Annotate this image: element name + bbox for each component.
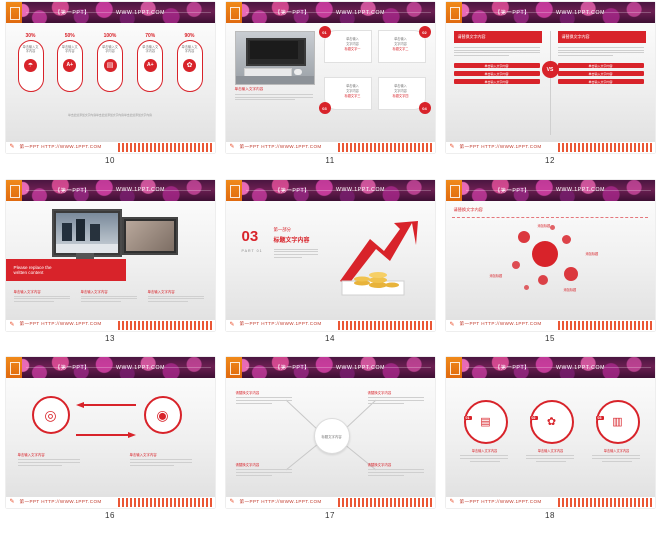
slide-cell-17[interactable]: 【第一PPT】 WWW.1PPT.COM 标题文字内容 请替换	[220, 355, 440, 533]
slide-11[interactable]: 【第一PPT】 WWW.1PPT.COM 单击输入文字内容	[226, 2, 435, 153]
slide-cell-15[interactable]: 【第一PPT】 WWW.1PPT.COM 请替换文字内容 添加标题 添加标题	[440, 178, 660, 356]
capsule-item[interactable]: 50% 单击输入文 字内容 A+	[55, 33, 85, 92]
capsule-label-2: 字内容	[182, 49, 198, 53]
brand-left: 【第一PPT】	[55, 187, 90, 194]
bubble-label: 添加标题	[538, 223, 551, 228]
footer-text: 第一PPT HTTP://WWW.1PPT.COM	[460, 499, 542, 505]
slide-10[interactable]: 【第一PPT】 WWW.1PPT.COM 30% 单击输入文 字内容	[6, 2, 215, 153]
brand-right: WWW.1PPT.COM	[556, 365, 605, 371]
red-banner: Please replace the written content	[6, 259, 126, 281]
slide-footer-bar: ✎ 第一PPT HTTP://WWW.1PPT.COM	[6, 320, 215, 331]
vs-divider	[550, 31, 551, 135]
slide-body: ◎ ◉ 单击输入文字内容 单击输入文字内	[6, 378, 215, 497]
slide-header-bar: 【第一PPT】 WWW.1PPT.COM	[226, 180, 435, 201]
ring-caption: 单击输入文字内容	[460, 448, 510, 453]
slide-footer-bar: ✎ 第一PPT HTTP://WWW.1PPT.COM	[446, 142, 655, 153]
slide-footer-bar: ✎ 第一PPT HTTP://WWW.1PPT.COM	[226, 142, 435, 153]
footer-text: 第一PPT HTTP://WWW.1PPT.COM	[240, 144, 322, 150]
footer-dashes	[338, 143, 433, 152]
footer-dashes	[558, 321, 653, 330]
brand-right: WWW.1PPT.COM	[556, 187, 605, 193]
slide-13[interactable]: 【第一PPT】 WWW.1PPT.COM	[6, 180, 215, 331]
desk-computer-photo	[235, 31, 315, 85]
pencil-icon: ✎	[10, 499, 18, 505]
percent-value: 30%	[16, 33, 46, 39]
bubble-small[interactable]	[564, 267, 578, 281]
pencil-icon: ✎	[10, 322, 18, 328]
pencil-icon: ✎	[450, 322, 458, 328]
left-button[interactable]: 单击输入文字内容	[454, 71, 540, 76]
badge-number: 03	[596, 416, 604, 420]
footer-text: 第一PPT HTTP://WWW.1PPT.COM	[20, 499, 102, 505]
badge-03: 03	[319, 102, 331, 114]
brand-right: WWW.1PPT.COM	[116, 10, 165, 16]
slide-header-bar: 【第一PPT】 WWW.1PPT.COM	[446, 180, 655, 201]
brand-left: 【第一PPT】	[55, 364, 90, 371]
a-plus-icon: A+	[63, 59, 76, 72]
percent-value: 90%	[175, 33, 205, 39]
part-label: PART 01	[242, 249, 263, 253]
brand-right: WWW.1PPT.COM	[556, 10, 605, 16]
percent-value: 70%	[135, 33, 165, 39]
right-button[interactable]: 单击输入文字内容	[558, 63, 644, 68]
caption-block: 单击输入文字内容	[130, 452, 194, 467]
slide-footer-bar: ✎ 第一PPT HTTP://WWW.1PPT.COM	[226, 320, 435, 331]
slide-number: 16	[105, 511, 115, 520]
node-block[interactable]: 请替换文字内容	[368, 462, 426, 477]
footer-text: 第一PPT HTTP://WWW.1PPT.COM	[460, 321, 542, 327]
slide-number: 18	[545, 511, 555, 520]
ring-caption: 单击输入文字内容	[592, 448, 642, 453]
capsule-item[interactable]: 30% 单击输入文 字内容 ☂	[16, 33, 46, 92]
node-title: 请替换文字内容	[368, 462, 426, 467]
slide-cell-14[interactable]: 【第一PPT】 WWW.1PPT.COM 03 PART 01 第一部分 标题文…	[220, 178, 440, 356]
slide-body: Please replace the written content 单击输入文…	[6, 201, 215, 320]
slide-cell-13[interactable]: 【第一PPT】 WWW.1PPT.COM	[0, 178, 220, 356]
percent-value: 50%	[55, 33, 85, 39]
bubble-small[interactable]	[518, 231, 530, 243]
capsule-label-2: 字内容	[62, 49, 78, 53]
slide-thumbnail-grid: 【第一PPT】 WWW.1PPT.COM 30% 单击输入文 字内容	[0, 0, 660, 533]
footer-text: 第一PPT HTTP://WWW.1PPT.COM	[460, 144, 542, 150]
pencil-icon: ✎	[230, 499, 238, 505]
left-button[interactable]: 单击输入文字内容	[454, 79, 540, 84]
card-line-3: 标题文字四	[385, 94, 417, 99]
capsule-item[interactable]: 100% 单击输入文 字内容 ▤	[94, 33, 126, 92]
brand-left: 【第一PPT】	[275, 9, 310, 16]
slide-header-bar: 【第一PPT】 WWW.1PPT.COM	[446, 357, 655, 378]
ring-right[interactable]: ◉	[144, 396, 182, 434]
slide-cell-18[interactable]: 【第一PPT】 WWW.1PPT.COM ▤ 01 单击输入文字内容 ✿ 02	[440, 355, 660, 533]
arrow-coins-illustration	[328, 215, 420, 303]
tablet-photo	[122, 217, 178, 255]
footer-dashes	[118, 498, 213, 507]
node-title: 请替换文字内容	[236, 390, 294, 395]
node-block[interactable]: 请替换文字内容	[368, 390, 426, 405]
node-title: 请替换文字内容	[236, 462, 294, 467]
slide-cell-11[interactable]: 【第一PPT】 WWW.1PPT.COM 单击输入文字内容	[220, 0, 440, 178]
bubble-dot[interactable]	[524, 285, 529, 290]
bubble-small[interactable]	[512, 261, 520, 269]
left-title: 请替换文字内容	[454, 31, 542, 43]
slide-cell-10[interactable]: 【第一PPT】 WWW.1PPT.COM 30% 单击输入文 字内容	[0, 0, 220, 178]
text-column: 单击输入文字内容	[81, 289, 139, 304]
bubble-label: 添加标题	[564, 287, 577, 292]
slide-15[interactable]: 【第一PPT】 WWW.1PPT.COM 请替换文字内容 添加标题 添加标题	[446, 180, 655, 331]
pencil-icon: ✎	[230, 322, 238, 328]
slide-body: ▤ 01 单击输入文字内容 ✿ 02 单击输入文字内容	[446, 378, 655, 497]
badge-02: 02	[419, 26, 431, 38]
slide-header-bar: 【第一PPT】 WWW.1PPT.COM	[6, 180, 215, 201]
leaf-card[interactable]: 03 单击输入 文字内容 标题文字三	[324, 77, 372, 110]
slide-cell-16[interactable]: 【第一PPT】 WWW.1PPT.COM ◎ ◉	[0, 355, 220, 533]
section-line-2: 标题文字内容	[274, 235, 310, 244]
capsule-item[interactable]: 90% 单击输入文 字内容 ✿	[175, 33, 205, 92]
pencil-icon: ✎	[10, 144, 18, 150]
caption-title: 单击输入文字内容	[130, 452, 194, 457]
column-title: 单击输入文字内容	[81, 289, 139, 294]
slide-header-bar: 【第一PPT】 WWW.1PPT.COM	[226, 357, 435, 378]
card-line-3: 标题文字二	[385, 47, 417, 52]
brand-left: 【第一PPT】	[495, 187, 530, 194]
footer-text: 第一PPT HTTP://WWW.1PPT.COM	[240, 321, 322, 327]
section-line-1: 第一部分	[274, 227, 292, 233]
slide-title: 请替换文字内容	[454, 207, 483, 213]
slide-number: 15	[545, 334, 555, 343]
badge-number: 01	[464, 416, 472, 420]
slide-body: 03 PART 01 第一部分 标题文字内容	[226, 201, 435, 320]
slide-body: 标题文字内容 请替换文字内容 请替换文字内容 请替换文字内容 请替换文字内容	[226, 378, 435, 497]
bubble-small[interactable]	[538, 275, 548, 285]
slide-body: 请替换文字内容 添加标题 添加标题 添加标题 添加标题	[446, 201, 655, 320]
node-title: 请替换文字内容	[368, 390, 426, 395]
a-plus-icon: A+	[144, 59, 157, 72]
node-block[interactable]: 请替换文字内容	[236, 390, 294, 405]
slide-footer-bar: ✎ 第一PPT HTTP://WWW.1PPT.COM	[6, 142, 215, 153]
brand-left: 【第一PPT】	[495, 364, 530, 371]
hub-circle[interactable]: 标题文字内容	[314, 418, 350, 454]
bubble-label: 添加标题	[586, 251, 599, 256]
footer-dashes	[118, 143, 213, 152]
ring-item[interactable]: ✿ 02	[530, 400, 574, 444]
capsule-item[interactable]: 70% 单击输入文 字内容 A+	[135, 33, 165, 92]
capsule-label-2: 字内容	[142, 49, 158, 53]
leaf-card[interactable]: 04 单击输入 文字内容 标题文字四	[378, 77, 426, 110]
brand-left: 【第一PPT】	[275, 364, 310, 371]
pencil-icon: ✎	[450, 144, 458, 150]
slide-footer-bar: ✎ 第一PPT HTTP://WWW.1PPT.COM	[446, 320, 655, 331]
slide-16[interactable]: 【第一PPT】 WWW.1PPT.COM ◎ ◉	[6, 357, 215, 508]
brand-right: WWW.1PPT.COM	[336, 10, 385, 16]
bar-chart-icon: ▤	[104, 59, 117, 72]
footer-text: 第一PPT HTTP://WWW.1PPT.COM	[20, 144, 102, 150]
ring-item[interactable]: ▥ 03	[596, 400, 640, 444]
slide-number: 13	[105, 334, 115, 343]
refresh-icon: ◉	[156, 408, 168, 422]
badge-number: 02	[530, 416, 538, 420]
capsule-label-2: 字内容	[102, 49, 118, 53]
target-icon: ◎	[44, 408, 56, 422]
caption-title: 单击输入文字内容	[235, 87, 315, 92]
caption-title: 单击输入文字内容	[18, 452, 82, 457]
gear-icon: ✿	[547, 417, 556, 428]
brand-left: 【第一PPT】	[55, 9, 90, 16]
left-button[interactable]: 单击输入文字内容	[454, 63, 540, 68]
slide-18[interactable]: 【第一PPT】 WWW.1PPT.COM ▤ 01 单击输入文字内容 ✿ 02	[446, 357, 655, 508]
umbrella-icon: ☂	[24, 59, 37, 72]
slide-number: 17	[325, 511, 335, 520]
brand-left: 【第一PPT】	[495, 9, 530, 16]
ring-caption: 单击输入文字内容	[526, 448, 576, 453]
hub-label: 标题文字内容	[321, 434, 341, 439]
slide-number: 11	[325, 156, 334, 165]
pencil-icon: ✎	[230, 144, 238, 150]
slide-footer-bar: ✎ 第一PPT HTTP://WWW.1PPT.COM	[446, 497, 655, 508]
title-underline	[452, 215, 648, 218]
document-icon: ▤	[480, 417, 490, 428]
column-title: 单击输入文字内容	[14, 289, 72, 294]
bar-chart-icon: ▥	[612, 417, 622, 428]
capsule-label-2: 字内容	[23, 49, 39, 53]
slide-14[interactable]: 【第一PPT】 WWW.1PPT.COM 03 PART 01 第一部分 标题文…	[226, 180, 435, 331]
slide-cell-12[interactable]: 【第一PPT】 WWW.1PPT.COM 请替换文字内容 单击输入文字内容 单击…	[440, 0, 660, 178]
footer-dashes	[338, 498, 433, 507]
percent-value: 100%	[94, 33, 126, 39]
footer-dashes	[338, 321, 433, 330]
slide-header-bar: 【第一PPT】 WWW.1PPT.COM	[6, 357, 215, 378]
bottom-note: 单击此处添加文字内容单击此处添加文字内容单击此处添加文字内容	[32, 113, 189, 118]
slide-header-bar: 【第一PPT】 WWW.1PPT.COM	[6, 2, 215, 23]
node-block[interactable]: 请替换文字内容	[236, 462, 294, 477]
ring-left[interactable]: ◎	[32, 396, 70, 434]
leaf-card[interactable]: 02 单击输入 文字内容 标题文字二	[378, 30, 426, 63]
right-button[interactable]: 单击输入文字内容	[558, 71, 644, 76]
footer-dashes	[558, 498, 653, 507]
brand-right: WWW.1PPT.COM	[116, 365, 165, 371]
vs-badge: VS	[542, 61, 559, 78]
brand-left: 【第一PPT】	[275, 187, 310, 194]
pencil-icon: ✎	[450, 499, 458, 505]
brand-right: WWW.1PPT.COM	[116, 187, 165, 193]
footer-dashes	[118, 321, 213, 330]
arrow-right-icon	[76, 432, 136, 438]
banner-line-2: written content	[14, 270, 126, 275]
ring-item[interactable]: ▤ 01	[464, 400, 508, 444]
slide-footer-bar: ✎ 第一PPT HTTP://WWW.1PPT.COM	[226, 497, 435, 508]
bubble-label: 添加标题	[490, 273, 503, 278]
slide-number: 10	[105, 156, 115, 165]
slide-header-bar: 【第一PPT】 WWW.1PPT.COM	[226, 2, 435, 23]
right-button[interactable]: 单击输入文字内容	[558, 79, 644, 84]
slide-number: 12	[545, 156, 555, 165]
arrow-left-icon	[76, 402, 136, 408]
column-title: 单击输入文字内容	[148, 289, 206, 294]
caption-block: 单击输入文字内容	[18, 452, 82, 467]
bubble-small[interactable]	[562, 235, 571, 244]
card-line-3: 标题文字三	[337, 94, 369, 99]
slide-body: 30% 单击输入文 字内容 ☂ 50%	[6, 23, 215, 142]
slide-header-bar: 【第一PPT】 WWW.1PPT.COM	[446, 2, 655, 23]
slide-17[interactable]: 【第一PPT】 WWW.1PPT.COM 标题文字内容 请替换	[226, 357, 435, 508]
slide-footer-bar: ✎ 第一PPT HTTP://WWW.1PPT.COM	[6, 497, 215, 508]
text-column: 单击输入文字内容	[14, 289, 72, 304]
text-column: 单击输入文字内容	[148, 289, 206, 304]
slide-body: 单击输入文字内容 01 单击输入 文字内容 标题文字一 02 单击输入	[226, 23, 435, 142]
footer-dashes	[558, 143, 653, 152]
card-line-3: 标题文字一	[337, 47, 369, 52]
bubble-large[interactable]	[532, 241, 558, 267]
slide-body: 请替换文字内容 单击输入文字内容 单击输入文字内容 单击输入文字内容 请替换文字…	[446, 23, 655, 142]
gear-icon: ✿	[183, 59, 196, 72]
footer-text: 第一PPT HTTP://WWW.1PPT.COM	[20, 321, 102, 327]
monitor-photo	[52, 209, 122, 257]
brand-right: WWW.1PPT.COM	[336, 187, 385, 193]
slide-12[interactable]: 【第一PPT】 WWW.1PPT.COM 请替换文字内容 单击输入文字内容 单击…	[446, 2, 655, 153]
brand-right: WWW.1PPT.COM	[336, 365, 385, 371]
section-number: 03	[242, 229, 259, 244]
footer-text: 第一PPT HTTP://WWW.1PPT.COM	[240, 499, 322, 505]
leaf-card[interactable]: 01 单击输入 文字内容 标题文字一	[324, 30, 372, 63]
badge-01: 01	[319, 26, 331, 38]
bubble-dot[interactable]	[550, 225, 555, 230]
right-title: 请替换文字内容	[558, 31, 646, 43]
badge-04: 04	[419, 102, 431, 114]
slide-number: 14	[325, 334, 335, 343]
